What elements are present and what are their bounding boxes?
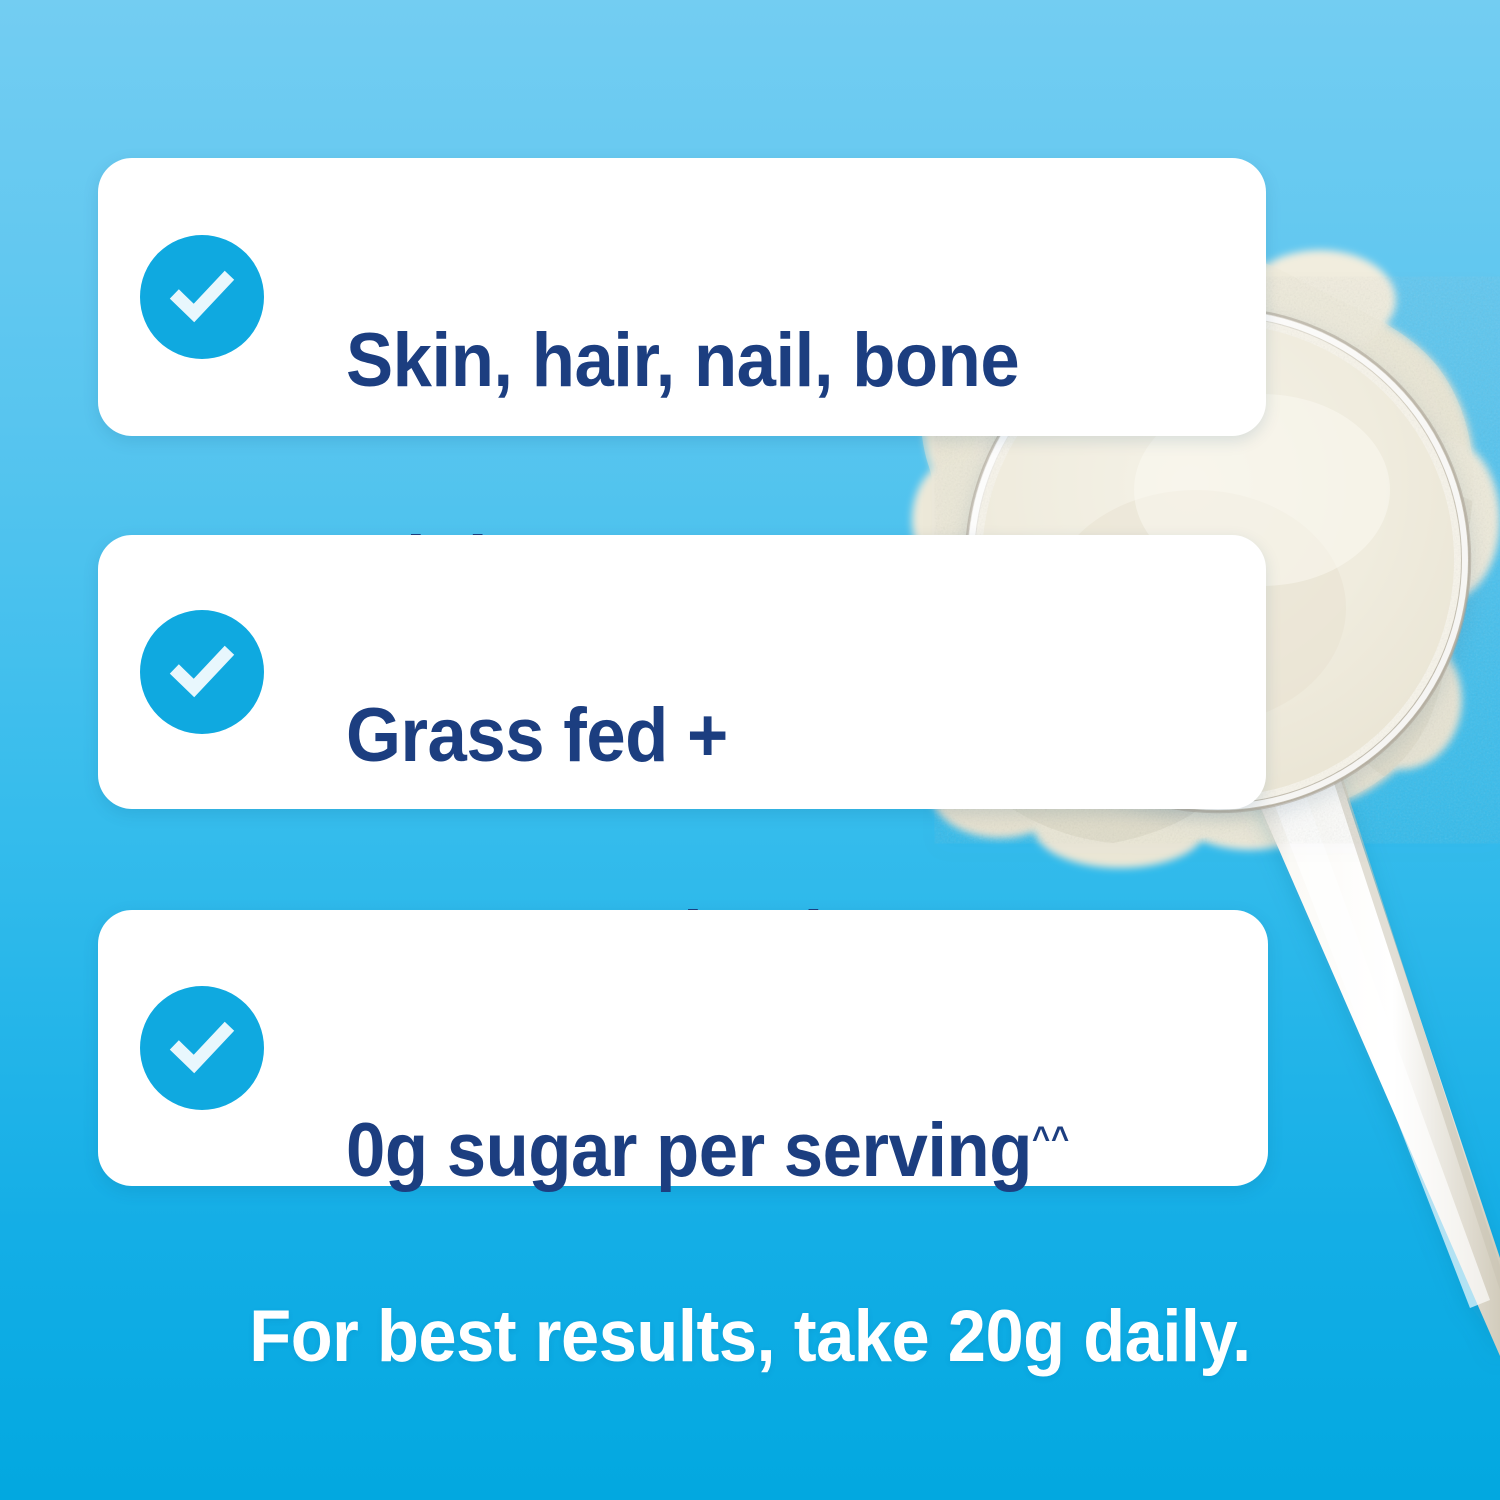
product-feature-graphic: Skin, hair, nail, bone + joint support**… (0, 0, 1500, 1500)
feature-card-skin-hair-nail-bone: Skin, hair, nail, bone + joint support**… (98, 158, 1266, 436)
feature-2-line-1: Grass fed + (346, 693, 728, 778)
dosage-note: For best results, take 20g daily. (45, 1295, 1455, 1378)
check-icon (140, 610, 264, 734)
feature-card-3-text: 0g sugar per serving^^ (346, 998, 1166, 1202)
check-icon (140, 986, 264, 1110)
feature-card-zero-sugar: 0g sugar per serving^^ (98, 910, 1268, 1186)
scoop-handle (1232, 712, 1500, 1356)
check-icon (140, 235, 264, 359)
feature-3-footnote: ^^ (1032, 1121, 1070, 1158)
feature-card-grass-fed-pasture-raised: Grass fed + pasture raised**^ (98, 535, 1266, 809)
feature-3-line-1: 0g sugar per serving (346, 1108, 1032, 1193)
feature-1-line-1: Skin, hair, nail, bone (346, 318, 1019, 403)
